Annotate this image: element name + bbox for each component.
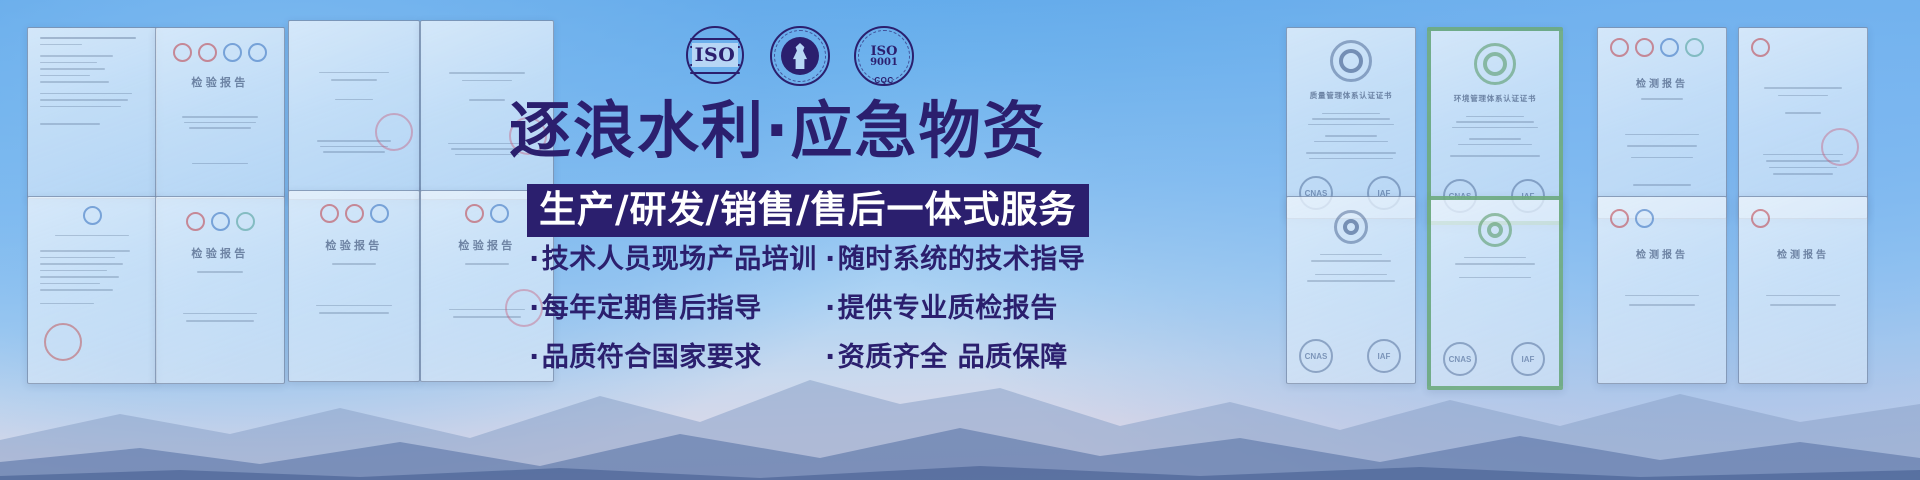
cnas-logo-icon	[370, 204, 389, 223]
cqc-logo-icon	[320, 204, 339, 223]
certificate-title: 检验报告	[168, 74, 273, 90]
feature-item: ·资质齐全 品质保障	[825, 342, 1085, 373]
ccc-logo-icon	[1635, 38, 1654, 57]
cqc-logo-icon	[1751, 38, 1770, 57]
iso-badge-label: ISO	[692, 43, 739, 67]
bullet-dot-icon: ·	[825, 293, 836, 324]
cnas-logo-icon	[83, 206, 102, 225]
certificate-title: 质量管理体系认证证书	[1299, 90, 1404, 101]
certificate-title: 检测报告	[1751, 246, 1856, 261]
certificate-title: 检验报告	[168, 245, 273, 261]
iso-emblem-icon	[1478, 213, 1512, 247]
certificate-thumb: 检验报告	[155, 27, 285, 199]
ccc-logo-icon	[345, 204, 364, 223]
feature-item: ·技术人员现场产品培训	[529, 244, 801, 275]
certificate-title: 检验报告	[301, 237, 408, 253]
banner-subtitle-bar: 生产/研发/销售/售后一体式服务	[527, 184, 1089, 237]
cqc-logo-icon	[465, 204, 484, 223]
certificate-title: 检验报告	[433, 237, 541, 253]
feature-list: ·技术人员现场产品培训 ·随时系统的技术指导 ·每年定期售后指导 ·提供专业质检…	[529, 244, 1085, 373]
bullet-dot-icon: ·	[825, 244, 836, 275]
iso-9001-cqc-badge-icon: ISO 9001 CQC	[854, 26, 912, 84]
iso-emblem-icon	[1330, 40, 1372, 82]
feature-text: 随时系统的技术指导	[838, 244, 1086, 275]
feature-item: ·每年定期售后指导	[529, 293, 801, 324]
bullet-dot-icon: ·	[529, 342, 540, 373]
ilac-logo-icon	[1685, 38, 1704, 57]
bullet-dot-icon: ·	[529, 293, 540, 324]
cqc-accreditor-label: CQC	[856, 77, 912, 85]
cqc-logo-icon	[1751, 209, 1770, 228]
cqc-logo-icon	[1610, 38, 1629, 57]
bullet-dot-icon: ·	[825, 342, 836, 373]
feature-text: 每年定期售后指导	[542, 293, 762, 324]
iso-globe-badge-icon: ISO	[686, 26, 744, 84]
certificate-title: 检测报告	[1610, 75, 1715, 90]
certificate-thumb	[288, 20, 420, 200]
cqc-logo-icon	[186, 212, 205, 231]
feature-item: ·品质符合国家要求	[529, 342, 801, 373]
feature-text: 资质齐全 品质保障	[838, 342, 1068, 373]
feature-item: ·提供专业质检报告	[825, 293, 1085, 324]
feature-text: 提供专业质检报告	[838, 293, 1058, 324]
feature-text: 品质符合国家要求	[542, 342, 762, 373]
certificate-thumb	[27, 27, 157, 199]
cqc-logo-icon	[1610, 209, 1629, 228]
inspection-seal-badge-icon	[770, 26, 828, 84]
iso-emblem-icon	[1474, 43, 1516, 85]
ccc-logo-icon	[198, 43, 217, 62]
cnas-logo-icon	[1635, 209, 1654, 228]
certificate-title: 环境管理体系认证证书	[1443, 93, 1548, 104]
ilac-logo-icon	[248, 43, 267, 62]
cnas-logo-icon	[223, 43, 242, 62]
cnas-logo-icon	[211, 212, 230, 231]
bullet-dot-icon: ·	[529, 244, 540, 275]
certificate-thumb	[1738, 27, 1868, 219]
cnas-logo-icon	[490, 204, 509, 223]
iso-emblem-icon	[1334, 210, 1368, 244]
certificate-thumb: 质量管理体系认证证书 CNAS IAF	[1286, 27, 1416, 219]
cqc-logo-icon	[173, 43, 192, 62]
feature-text: 技术人员现场产品培训	[542, 244, 817, 275]
certification-badges: ISO ISO 9001 CQC	[686, 26, 912, 84]
cnas-logo-icon	[1660, 38, 1679, 57]
certificate-thumb: 检测报告	[1597, 27, 1727, 219]
ilac-logo-icon	[236, 212, 255, 231]
promo-banner: 检验报告	[0, 0, 1920, 480]
certificate-title: 检测报告	[1610, 246, 1715, 261]
feature-item: ·随时系统的技术指导	[825, 244, 1085, 275]
banner-headline: 逐浪水利·应急物资	[509, 100, 1047, 162]
